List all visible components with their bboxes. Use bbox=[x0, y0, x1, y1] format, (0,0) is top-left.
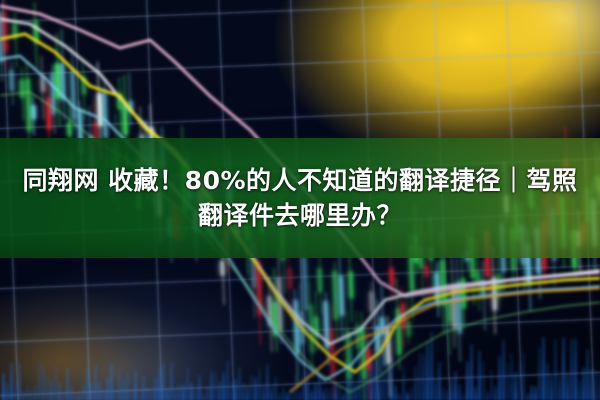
volume-bar bbox=[390, 357, 393, 400]
grid-line-horizontal bbox=[0, 0, 600, 27]
candlestick-wick bbox=[3, 0, 7, 70]
candlestick bbox=[302, 257, 308, 310]
candlestick bbox=[333, 271, 339, 320]
candlestick bbox=[31, 105, 35, 119]
volume-bar bbox=[38, 361, 41, 400]
candlestick-wick bbox=[118, 78, 121, 143]
volume-bar bbox=[334, 382, 337, 400]
volume-bar bbox=[410, 387, 413, 400]
volume-bar bbox=[2, 373, 5, 400]
volume-bar bbox=[34, 385, 37, 400]
volume-bar bbox=[486, 391, 489, 400]
candlestick bbox=[71, 71, 77, 120]
volume-bar bbox=[70, 386, 73, 400]
volume-bar bbox=[106, 377, 109, 400]
volume-bar bbox=[574, 339, 577, 400]
volume-bar bbox=[290, 387, 293, 400]
volume-bar bbox=[206, 387, 209, 400]
volume-bar bbox=[318, 374, 321, 400]
candlestick bbox=[13, 24, 17, 38]
grid-line-horizontal bbox=[0, 314, 600, 347]
volume-bar bbox=[454, 371, 457, 400]
candlestick-wick bbox=[82, 61, 85, 121]
volume-bar bbox=[590, 368, 593, 400]
volume-bar bbox=[246, 386, 249, 400]
candlestick bbox=[97, 93, 102, 126]
volume-bar bbox=[466, 361, 469, 400]
volume-bar bbox=[502, 340, 505, 400]
candlestick bbox=[345, 330, 351, 378]
volume-bar bbox=[458, 384, 461, 400]
volume-bar bbox=[266, 364, 269, 400]
candlestick-wick bbox=[461, 254, 465, 326]
volume-bar bbox=[78, 394, 81, 400]
candlestick bbox=[277, 278, 283, 331]
volume-bar bbox=[338, 385, 341, 400]
candlestick bbox=[273, 302, 278, 336]
volume-bar bbox=[126, 374, 129, 400]
volume-bar bbox=[250, 375, 253, 400]
candlestick bbox=[293, 300, 299, 355]
volume-bar bbox=[470, 344, 473, 400]
volume-bar bbox=[482, 361, 485, 400]
volume-bar bbox=[350, 338, 353, 400]
grid-line-horizontal bbox=[0, 260, 600, 293]
volume-bar bbox=[82, 384, 85, 400]
volume-bar bbox=[302, 363, 305, 400]
volume-bar bbox=[6, 383, 9, 400]
candlestick bbox=[256, 261, 262, 315]
volume-bar bbox=[286, 392, 289, 400]
candlestick-wick bbox=[334, 262, 338, 340]
volume-bar bbox=[218, 381, 221, 400]
volume-bar bbox=[274, 377, 277, 400]
volume-bar bbox=[130, 391, 133, 400]
candlestick-wick bbox=[278, 252, 282, 344]
candlestick bbox=[0, 12, 3, 62]
candlestick bbox=[330, 328, 336, 376]
volume-bar bbox=[322, 389, 325, 400]
candlestick bbox=[376, 326, 381, 352]
candlestick-wick bbox=[456, 258, 461, 362]
candlestick-wick bbox=[367, 327, 371, 400]
candlestick-wick bbox=[21, 68, 24, 120]
volume-bar bbox=[346, 359, 349, 400]
volume-bar bbox=[98, 381, 101, 400]
candlestick bbox=[481, 280, 486, 297]
candlestick-wick bbox=[361, 312, 366, 400]
candlestick-wick bbox=[319, 256, 322, 314]
candlestick-wick bbox=[0, 4, 2, 82]
candlestick bbox=[25, 78, 31, 131]
candlestick-wick bbox=[356, 311, 359, 360]
candlestick-wick bbox=[401, 287, 404, 347]
candlestick bbox=[425, 266, 429, 277]
volume-bar bbox=[526, 393, 529, 400]
volume-bar bbox=[242, 383, 245, 400]
volume-bar bbox=[398, 393, 401, 400]
volume-bar bbox=[298, 390, 301, 400]
candlestick bbox=[440, 260, 446, 305]
candlestick bbox=[496, 274, 501, 291]
volume-bar bbox=[594, 370, 597, 400]
candlestick bbox=[46, 97, 51, 129]
candlestick-wick bbox=[128, 73, 131, 126]
volume-bar bbox=[146, 387, 149, 400]
volume-bar bbox=[426, 342, 429, 400]
volume-bar bbox=[314, 383, 317, 400]
candlestick-wick bbox=[268, 276, 272, 352]
volume-bar bbox=[50, 380, 53, 400]
volume-bar bbox=[534, 386, 537, 400]
volume-bar bbox=[66, 367, 69, 400]
volume-bar bbox=[54, 365, 57, 400]
volume-bar bbox=[166, 389, 169, 400]
candlestick bbox=[446, 300, 451, 323]
volume-bar bbox=[490, 370, 493, 400]
volume-bar bbox=[114, 390, 117, 400]
volume-bar bbox=[86, 367, 89, 400]
volume-bar bbox=[174, 388, 177, 400]
volume-bar bbox=[550, 375, 553, 400]
volume-bar bbox=[142, 376, 145, 400]
volume-bar bbox=[386, 360, 389, 400]
volume-bar bbox=[158, 367, 161, 400]
candlestick-wick bbox=[381, 285, 385, 366]
volume-bar bbox=[58, 382, 61, 400]
volume-bar bbox=[462, 393, 465, 400]
volume-bar bbox=[434, 378, 437, 400]
volume-bar bbox=[294, 374, 297, 400]
candlestick-wick bbox=[273, 268, 277, 352]
candlestick-wick bbox=[325, 293, 329, 366]
candlestick-wick bbox=[407, 294, 410, 344]
candlestick bbox=[348, 271, 353, 298]
candlestick-wick bbox=[376, 300, 380, 372]
volume-bar bbox=[378, 370, 381, 400]
candlestick bbox=[406, 321, 411, 336]
volume-bar bbox=[414, 366, 417, 400]
candlestick bbox=[389, 267, 394, 286]
candlestick-wick bbox=[41, 56, 44, 120]
ma-orange-line bbox=[290, 288, 600, 392]
candlestick bbox=[40, 76, 45, 92]
volume-bar bbox=[254, 377, 257, 400]
volume-bar bbox=[186, 367, 189, 400]
volume-bar bbox=[194, 389, 197, 400]
candlestick bbox=[317, 268, 322, 293]
volume-bar bbox=[262, 386, 265, 400]
candlestick-wick bbox=[315, 291, 318, 350]
volume-bar bbox=[30, 389, 33, 400]
candlestick-wick bbox=[299, 283, 303, 366]
candlestick bbox=[324, 301, 330, 349]
candlestick bbox=[102, 92, 108, 138]
candlestick-wick bbox=[330, 305, 334, 399]
candlestick bbox=[117, 93, 122, 109]
volume-bar bbox=[578, 381, 581, 400]
volume-bar bbox=[498, 356, 501, 400]
candlestick bbox=[67, 122, 71, 136]
volume-bar bbox=[562, 337, 565, 400]
candlestick bbox=[33, 21, 38, 43]
candlestick-wick bbox=[346, 311, 350, 400]
volume-bar bbox=[514, 372, 517, 400]
volume-bar bbox=[162, 363, 165, 400]
candlestick bbox=[9, 70, 14, 91]
candlestick bbox=[400, 303, 405, 328]
volume-bar bbox=[118, 374, 121, 400]
volume-bar bbox=[238, 367, 241, 400]
volume-bar bbox=[222, 372, 225, 400]
volume-bar bbox=[202, 393, 205, 400]
volume-bar bbox=[370, 356, 373, 400]
grid-line-horizontal bbox=[0, 101, 600, 134]
candlestick-wick bbox=[71, 46, 75, 130]
candlestick-wick bbox=[56, 33, 60, 127]
candlestick bbox=[355, 325, 360, 348]
volume-bar bbox=[198, 375, 201, 400]
candlestick bbox=[435, 272, 440, 305]
volume-bar bbox=[214, 372, 217, 400]
volume-bar bbox=[374, 348, 377, 400]
headline-line-2: 翻译件去哪里办？ bbox=[198, 201, 402, 231]
volume-bar bbox=[170, 362, 173, 400]
volume-bar bbox=[26, 386, 29, 400]
candlestick bbox=[299, 312, 304, 344]
candlestick-wick bbox=[497, 255, 500, 302]
candlestick bbox=[369, 292, 374, 313]
volume-bar bbox=[538, 347, 541, 400]
volume-bar bbox=[258, 368, 261, 400]
volume-bar bbox=[94, 365, 97, 400]
volume-bar bbox=[122, 379, 125, 400]
volume-bar bbox=[306, 370, 309, 400]
candlestick-wick bbox=[52, 65, 55, 134]
candlestick bbox=[60, 63, 65, 101]
volume-bar bbox=[358, 349, 361, 400]
volume-bar bbox=[406, 392, 409, 400]
headline-line-1: 同翔网 收藏！80%的人不知道的翻译捷径｜驾照 bbox=[22, 166, 577, 196]
volume-bar bbox=[270, 387, 273, 400]
volume-bar bbox=[182, 384, 185, 400]
candlestick bbox=[81, 76, 86, 94]
volume-bar bbox=[418, 353, 421, 400]
volume-bar bbox=[510, 353, 513, 400]
candlestick bbox=[2, 12, 7, 51]
grid-line-horizontal bbox=[0, 47, 600, 80]
volume-bar bbox=[366, 339, 369, 400]
headline-text-block: 同翔网 收藏！80%的人不知道的翻译捷径｜驾照 翻译件去哪里办？ bbox=[0, 138, 600, 258]
candlestick-wick bbox=[396, 278, 400, 369]
volume-bar bbox=[22, 391, 25, 400]
volume-bar bbox=[134, 371, 137, 400]
volume-bar bbox=[570, 339, 573, 400]
candlestick bbox=[386, 327, 391, 364]
volume-bar bbox=[506, 363, 509, 400]
volume-bar bbox=[342, 393, 345, 400]
volume-bar bbox=[446, 390, 449, 400]
volume-bar bbox=[362, 376, 365, 400]
volume-bar bbox=[542, 337, 545, 400]
volume-bar bbox=[450, 379, 453, 400]
volume-bar bbox=[190, 382, 193, 400]
candlestick bbox=[20, 80, 25, 98]
volume-bar bbox=[90, 382, 93, 400]
volume-bar bbox=[478, 350, 481, 400]
candlestick bbox=[309, 305, 315, 353]
candlestick bbox=[287, 268, 292, 289]
candlestick bbox=[451, 286, 457, 329]
volume-bar bbox=[494, 386, 497, 400]
candlestick bbox=[380, 317, 385, 335]
volume-bar bbox=[154, 377, 157, 400]
volume-bar bbox=[326, 388, 329, 400]
volume-bar bbox=[518, 364, 521, 400]
volume-bar bbox=[330, 387, 333, 400]
candlestick bbox=[123, 104, 128, 135]
volume-bar bbox=[230, 381, 233, 400]
volume-bar bbox=[110, 363, 113, 400]
volume-bar bbox=[178, 384, 181, 400]
volume-bar bbox=[62, 392, 65, 400]
candlestick-wick bbox=[371, 282, 374, 330]
candlestick-wick bbox=[288, 251, 291, 320]
candlestick bbox=[220, 261, 225, 276]
volume-bar bbox=[10, 363, 13, 400]
volume-bar bbox=[402, 366, 405, 400]
candlestick bbox=[50, 74, 55, 115]
volume-bar bbox=[282, 388, 285, 400]
candlestick bbox=[55, 63, 60, 99]
grid-line-horizontal bbox=[0, 367, 600, 400]
volume-bar bbox=[546, 363, 549, 400]
candlestick-wick bbox=[436, 262, 439, 317]
candlestick-wick bbox=[14, 12, 17, 68]
volume-bar bbox=[582, 367, 585, 400]
volume-bar bbox=[18, 363, 21, 400]
candlestick-wick bbox=[447, 283, 451, 355]
volume-bar bbox=[102, 389, 105, 400]
volume-bar bbox=[586, 349, 589, 400]
volume-bar bbox=[354, 383, 357, 400]
volume-bar bbox=[438, 362, 441, 400]
volume-bar bbox=[430, 332, 433, 400]
candlestick-wick bbox=[387, 316, 391, 397]
volume-bar bbox=[382, 343, 385, 400]
candlestick-wick bbox=[309, 282, 313, 378]
volume-bar bbox=[554, 339, 557, 400]
candlestick bbox=[395, 308, 401, 354]
volume-bar bbox=[278, 393, 281, 400]
candlestick bbox=[461, 278, 466, 308]
candlestick-wick bbox=[11, 61, 14, 105]
candlestick bbox=[476, 270, 480, 284]
candlestick-wick bbox=[349, 255, 352, 322]
candlestick-wick bbox=[32, 96, 34, 135]
candlestick bbox=[456, 282, 462, 334]
volume-bar bbox=[74, 393, 77, 400]
volume-bar bbox=[42, 364, 45, 400]
candlestick-wick bbox=[482, 260, 485, 330]
volume-bar bbox=[558, 376, 561, 400]
candlestick bbox=[267, 296, 272, 326]
volume-bar bbox=[442, 387, 445, 400]
volume-bar bbox=[210, 371, 213, 400]
candlestick bbox=[366, 348, 371, 369]
volume-bar bbox=[422, 354, 425, 400]
candlestick bbox=[128, 100, 132, 111]
candlestick-wick bbox=[61, 30, 65, 120]
candlestick bbox=[338, 275, 343, 316]
volume-bar bbox=[14, 382, 17, 400]
volume-bar bbox=[46, 375, 49, 400]
candlestick-wick bbox=[34, 2, 37, 70]
candlestick-wick bbox=[451, 257, 455, 348]
candlestick-wick bbox=[294, 290, 298, 388]
volume-bar bbox=[310, 390, 313, 400]
volume-bar bbox=[234, 379, 237, 400]
volume-bar bbox=[566, 374, 569, 400]
volume-bar bbox=[522, 353, 525, 400]
candlestick bbox=[360, 327, 366, 380]
candlestick bbox=[491, 278, 496, 311]
volume-bar bbox=[394, 385, 397, 400]
volume-bar bbox=[150, 388, 153, 400]
volume-bar bbox=[530, 385, 533, 400]
volume-bar bbox=[138, 394, 141, 400]
volume-bar bbox=[226, 361, 229, 400]
candlestick bbox=[314, 316, 319, 336]
volume-bar bbox=[474, 387, 477, 400]
banner-image: 同翔网 收藏！80%的人不知道的翻译捷径｜驾照 翻译件去哪里办？ bbox=[0, 0, 600, 400]
candlestick-wick bbox=[492, 246, 496, 334]
